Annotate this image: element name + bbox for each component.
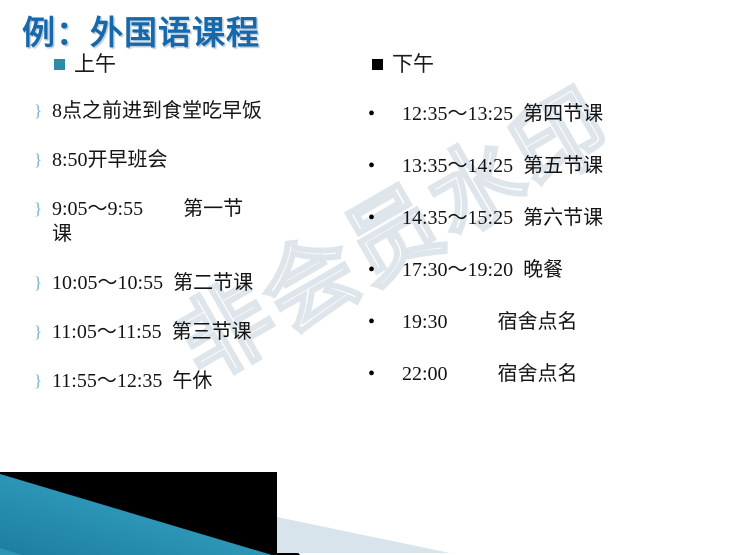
decor-light-wedge [277,517,450,553]
list-item-text: 14:35～15:25 第六节课 [402,206,603,231]
dot-bullet-icon: • [368,154,402,179]
list-item-text: 13:35～14:25 第五节课 [402,154,603,179]
list-item-text: 8:50开早班会 [52,148,168,173]
list-item: • 13:35～14:25 第五节课 [368,154,736,179]
slide-canvas: 非会员水印 例：外国语课程 上午 } 8点之前进到食堂吃早饭 } 8:50开早班… [0,0,740,555]
section-header-afternoon-label: 下午 [392,54,434,75]
list-item: } 10:05～10:55 第二节课 [34,271,374,296]
list-item-text: 10:05～10:55 第二节课 [52,271,253,296]
list-item-text: 9:05～9:55 第一节 课 [52,197,243,247]
list-item: • 12:35～13:25 第四节课 [368,102,736,127]
square-bullet-icon [372,59,383,70]
list-item: • 19:30 宿舍点名 [368,310,736,335]
brace-bullet-icon: } [34,100,52,122]
section-header-morning-label: 上午 [74,54,116,75]
list-item: • 22:00 宿舍点名 [368,362,736,387]
page-title: 例：外国语课程 [22,6,260,54]
dot-bullet-icon: • [368,258,402,283]
dot-bullet-icon: • [368,102,402,127]
square-bullet-icon [54,59,65,70]
list-item-text: 12:35～13:25 第四节课 [402,102,603,127]
list-item-text: 11:05～11:55 第三节课 [52,320,252,345]
list-item: } 8:50开早班会 [34,148,374,173]
brace-bullet-icon: } [34,149,52,171]
dot-bullet-icon: • [368,310,402,335]
brace-bullet-icon: } [34,321,52,343]
list-item: • 14:35～15:25 第六节课 [368,206,736,231]
list-item: } 8点之前进到食堂吃早饭 [34,99,374,124]
footer-decoration [0,460,740,555]
brace-bullet-icon: } [34,370,52,392]
list-item: } 9:05～9:55 第一节 课 [34,197,374,247]
dot-bullet-icon: • [368,362,402,387]
list-item-text: 17:30～19:20 晚餐 [402,258,563,283]
section-header-morning: 上午 [54,54,374,75]
morning-column: 上午 } 8点之前进到食堂吃早饭 } 8:50开早班会 } 9:05～9:55 … [34,54,374,394]
list-item-text: 11:55～12:35 午休 [52,369,212,394]
list-item: • 17:30～19:20 晚餐 [368,258,736,283]
dot-bullet-icon: • [368,206,402,231]
afternoon-column: 下午 • 12:35～13:25 第四节课 • 13:35～14:25 第五节课… [368,54,736,387]
list-item: } 11:05～11:55 第三节课 [34,320,374,345]
list-item-text: 19:30 宿舍点名 [402,310,578,335]
list-item: } 11:55～12:35 午休 [34,369,374,394]
list-item-text: 22:00 宿舍点名 [402,362,578,387]
list-item-text: 8点之前进到食堂吃早饭 [52,99,262,124]
brace-bullet-icon: } [34,272,52,294]
section-header-afternoon: 下午 [372,54,736,75]
brace-bullet-icon: } [34,198,52,220]
